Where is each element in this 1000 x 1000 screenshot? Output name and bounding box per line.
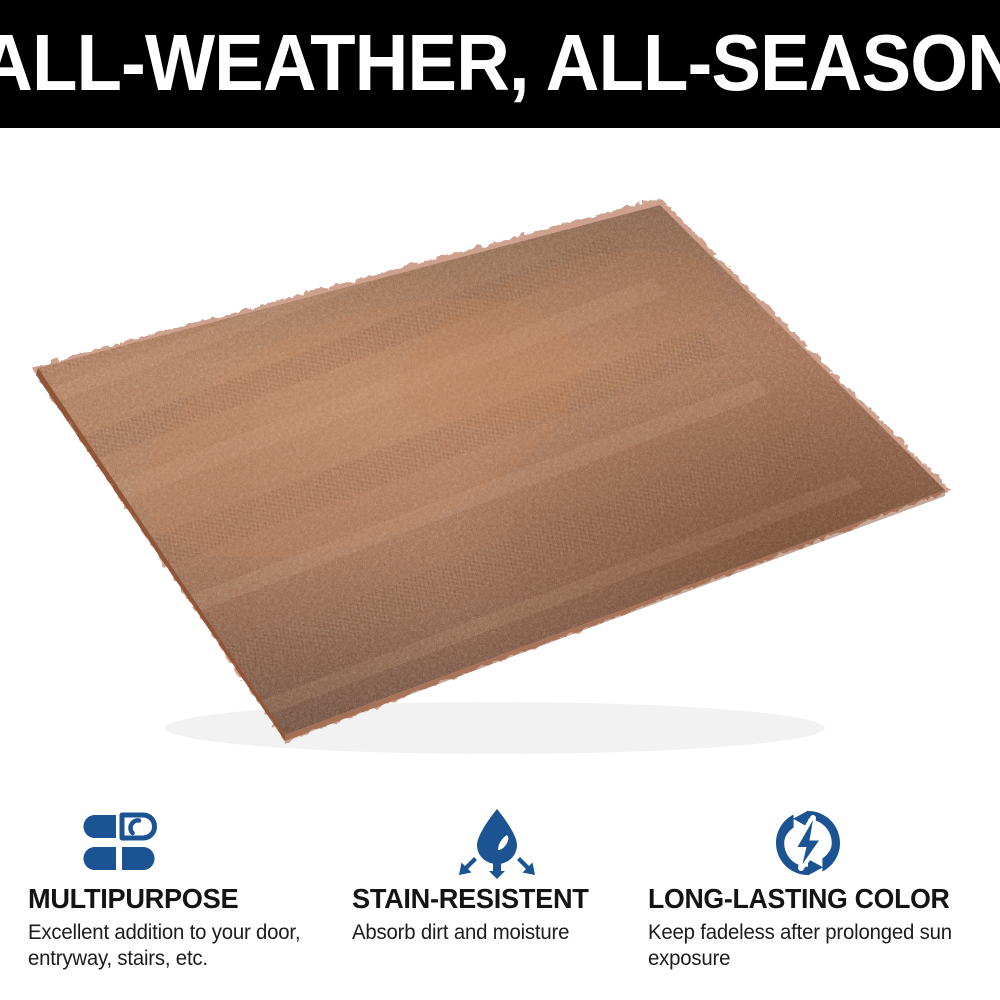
- lightning-recycle-circle-icon: [773, 808, 843, 878]
- rug-body: [0, 128, 1000, 800]
- feature-description: Absorb dirt and moisture: [352, 920, 639, 946]
- feature-multipurpose: MULTIPURPOSE Excellent addition to your …: [0, 800, 338, 1000]
- feature-icon-wrap: [352, 800, 642, 874]
- feature-icon-wrap: [28, 800, 212, 874]
- headline-text: ALL-WEATHER, ALL-SEASON: [0, 23, 1000, 103]
- feature-title: LONG-LASTING COLOR: [648, 884, 989, 914]
- feature-stain-resistent: STAIN-RESISTENT Absorb dirt and moisture: [338, 800, 648, 1000]
- feature-title: STAIN-RESISTENT: [352, 884, 639, 914]
- four-petal-clover-icon: [83, 808, 157, 878]
- arrow-down-icon: [489, 861, 505, 879]
- droplet-shape: [477, 809, 517, 864]
- water-droplet-absorb-icon: [457, 807, 537, 879]
- feature-icon-wrap: [648, 800, 968, 874]
- arrow-right-icon: [517, 857, 535, 875]
- feature-description: Keep fadeless after prolonged sun exposu…: [648, 920, 968, 972]
- feature-strip: MULTIPURPOSE Excellent addition to your …: [0, 800, 1000, 1000]
- arrow-left-icon: [459, 857, 477, 875]
- feature-long-lasting-color: LONG-LASTING COLOR Keep fadeless after p…: [648, 800, 1000, 1000]
- rug-photo: [0, 128, 1000, 800]
- headline-banner: ALL-WEATHER, ALL-SEASON: [0, 0, 1000, 128]
- clover-inner-arc: [131, 820, 139, 833]
- feature-title: MULTIPURPOSE: [28, 884, 329, 914]
- product-hero-image: [0, 128, 1000, 800]
- rug-illustration: [0, 128, 1000, 800]
- feature-description: Excellent addition to your door, entrywa…: [28, 920, 329, 972]
